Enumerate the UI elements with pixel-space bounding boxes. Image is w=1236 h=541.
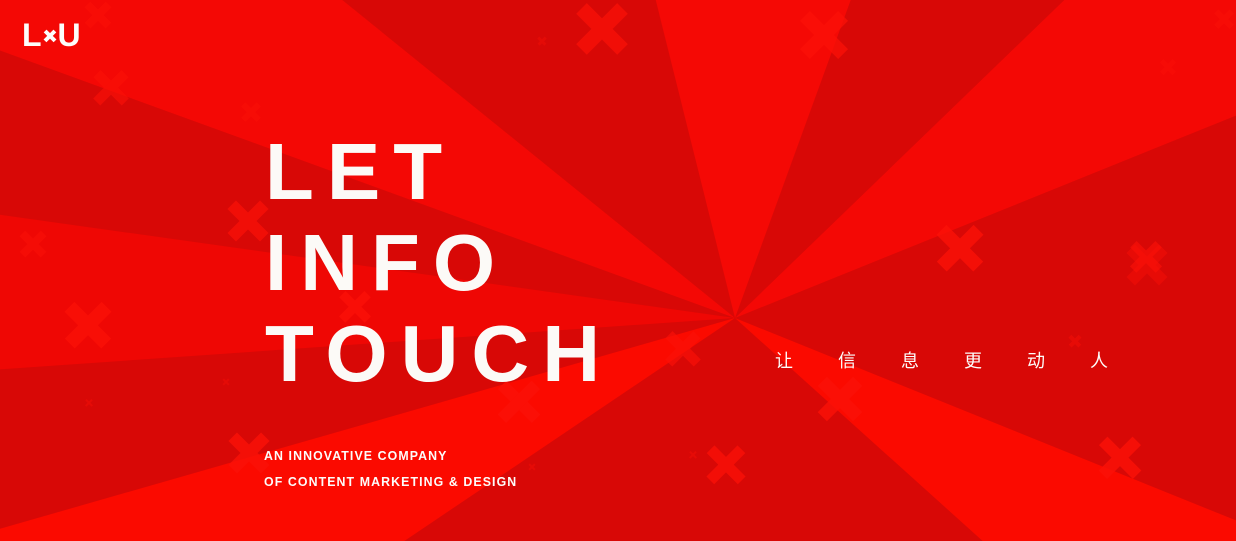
cross-mid-dot <box>222 378 230 386</box>
cross-far-sm <box>1068 334 1082 348</box>
logo-x-icon <box>43 29 57 43</box>
hero-subtitle-chinese: 让 信 息 更 动 人 <box>775 350 1128 372</box>
headline-line-2: INFO <box>263 217 613 308</box>
hero-headline: LET INFO TOUCH <box>263 126 613 399</box>
cross-far-4 <box>1096 434 1144 482</box>
cross-far-1 <box>934 222 986 274</box>
cross-ctr-sm <box>537 36 547 46</box>
cross-tl-tiny <box>83 0 113 30</box>
cross-edge-r <box>1213 8 1235 30</box>
radial-burst-decoration <box>0 0 1236 541</box>
brand-logo[interactable]: L U <box>22 19 81 51</box>
cross-far-3 <box>1124 242 1170 288</box>
logo-letter-l: L <box>22 19 42 51</box>
cross-left-mid <box>18 229 48 259</box>
cross-left-lo <box>62 299 114 351</box>
hero-tagline: AN INNOVATIVE COMPANY OF CONTENT MARKETI… <box>264 443 531 495</box>
cross-upper-1 <box>91 68 131 108</box>
cross-rt-2 <box>815 374 865 424</box>
ray-down-right <box>735 0 1236 318</box>
cross-mid-sm <box>240 101 262 123</box>
cross-far-top <box>1159 58 1177 76</box>
cross-ctr-3 <box>663 329 703 369</box>
hero-banner: L U LET INFO TOUCH AN INNOVATIVE COMPANY… <box>0 0 1236 541</box>
cross-rt-dot <box>688 450 697 459</box>
logo-letter-u: U <box>58 19 81 51</box>
headline-line-3: TOUCH <box>263 308 613 399</box>
cross-rt-3 <box>704 443 748 487</box>
cross-left-dot <box>84 398 93 407</box>
cross-far-2 <box>1128 239 1164 275</box>
headline-line-1: LET <box>263 126 613 217</box>
cross-rt-1 <box>797 8 851 62</box>
tagline-line-2: OF CONTENT MARKETING & DESIGN <box>264 469 517 495</box>
tagline-line-1: AN INNOVATIVE COMPANY <box>264 443 517 469</box>
cross-ctr-2 <box>573 0 631 58</box>
